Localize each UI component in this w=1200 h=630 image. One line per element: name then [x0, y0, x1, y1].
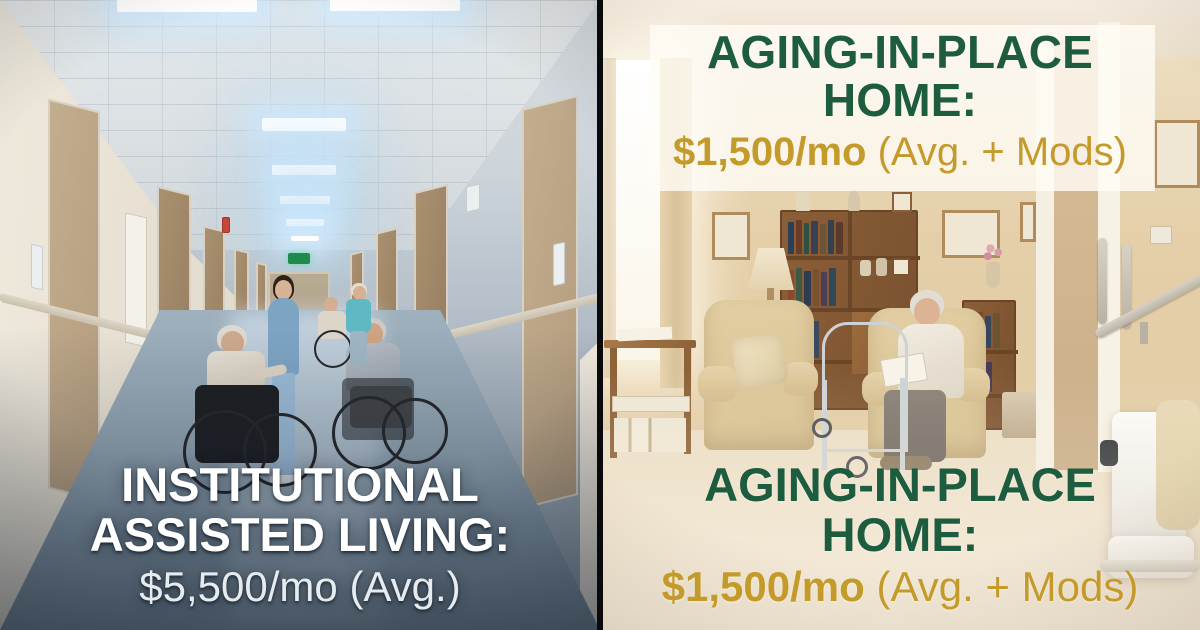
corridor-door-left-1 — [48, 99, 100, 502]
ceiling-light-4 — [272, 165, 336, 175]
flower-vase — [986, 262, 1000, 288]
ceiling-light-7 — [291, 236, 319, 241]
ceiling-light-6 — [286, 219, 324, 226]
wall-panel-mid-right — [466, 183, 480, 212]
left-caption-line1: INSTITUTIONAL — [0, 460, 600, 510]
ceiling-light-1 — [117, 0, 257, 12]
book — [804, 271, 811, 306]
resident3-head — [324, 297, 338, 312]
nurse-head — [275, 280, 292, 300]
light-switch — [1150, 226, 1172, 244]
overlay-caption-line2: HOME: — [620, 76, 1180, 124]
comparison-image: INSTITUTIONAL ASSISTED LIVING: $5,500/mo… — [0, 0, 1200, 630]
book — [811, 221, 818, 254]
bookcase-top-ornament-1 — [796, 192, 810, 211]
caregiver-head — [353, 286, 366, 300]
left-caption-line2: ASSISTED LIVING: — [0, 510, 600, 560]
bookcase-photo-frame — [892, 258, 910, 276]
left-caption-price: $5,500/mo (Avg.) — [0, 562, 600, 612]
book — [796, 220, 802, 254]
book — [829, 268, 836, 306]
right-caption-line1: AGING-IN-PLACE — [600, 460, 1200, 510]
bookcase-top-ornament-2 — [848, 190, 860, 211]
top-overlay-caption-block: AGING-IN-PLACE HOME: $1,500/mo (Avg. + M… — [620, 28, 1180, 175]
overlay-caption-line1: AGING-IN-PLACE — [620, 28, 1180, 76]
photo-frames-lower — [614, 418, 686, 452]
overlay-price-amount: $1,500/mo — [673, 130, 866, 174]
handrail-bracket — [1140, 322, 1148, 344]
right-price-amount: $1,500/mo — [662, 563, 865, 610]
left-caption-block: INSTITUTIONAL ASSISTED LIVING: $5,500/mo… — [0, 460, 600, 612]
caregiver-top — [346, 299, 371, 333]
magazines-on-shelf — [612, 396, 690, 412]
armchair-left-arm-far — [782, 362, 818, 396]
bookcase-top-photo — [892, 192, 912, 212]
exit-sign — [288, 253, 310, 264]
panel-divider — [597, 0, 603, 630]
book — [813, 269, 819, 306]
cushion-patterned — [731, 333, 789, 390]
walker-wheel-left — [812, 418, 832, 438]
right-caption-block: AGING-IN-PLACE HOME: $1,500/mo (Avg. + M… — [600, 460, 1200, 612]
framed-picture-small — [1020, 202, 1036, 242]
door-grab-handle-1 — [1098, 238, 1107, 324]
book — [821, 272, 827, 306]
walker-leg-right — [900, 378, 905, 470]
wall-panel-left — [31, 244, 43, 291]
bookshelf-center-post — [848, 212, 852, 308]
armchair-left-arm-near — [698, 366, 738, 402]
right-caption-line2: HOME: — [600, 510, 1200, 560]
ceiling-light-5 — [280, 196, 330, 204]
caregiver-distant — [342, 283, 376, 369]
right-price-qualifier: (Avg. + Mods) — [876, 563, 1138, 610]
book — [993, 313, 1000, 348]
wall-panel-right — [553, 242, 565, 287]
framed-picture-left — [712, 212, 750, 260]
flowers — [980, 238, 1006, 264]
book — [788, 222, 794, 254]
overlay-caption-price: $1,500/mo (Avg. + Mods) — [620, 129, 1180, 175]
ceiling-light-2 — [330, 0, 460, 11]
ceiling-light-3 — [262, 118, 346, 131]
bookcase-ornament-2 — [876, 258, 887, 276]
bookcase-ornament-1 — [860, 260, 871, 276]
left-panel-institutional-assisted-living: INSTITUTIONAL ASSISTED LIVING: $5,500/mo… — [0, 0, 600, 630]
wheelchair2-wheel-right — [382, 398, 448, 464]
right-panel-aging-in-place: AGING-IN-PLACE HOME: $1,500/mo (Avg. + M… — [600, 0, 1200, 630]
caregiver-legs — [350, 331, 367, 365]
fire-alarm-panel — [222, 217, 230, 233]
book — [804, 223, 809, 254]
book — [828, 220, 834, 254]
overlay-price-qualifier: (Avg. + Mods) — [878, 130, 1127, 174]
senior-head — [914, 298, 940, 326]
book — [820, 224, 826, 254]
right-caption-price: $1,500/mo (Avg. + Mods) — [600, 562, 1200, 612]
book — [836, 222, 843, 254]
wheeled-walker — [822, 322, 908, 452]
